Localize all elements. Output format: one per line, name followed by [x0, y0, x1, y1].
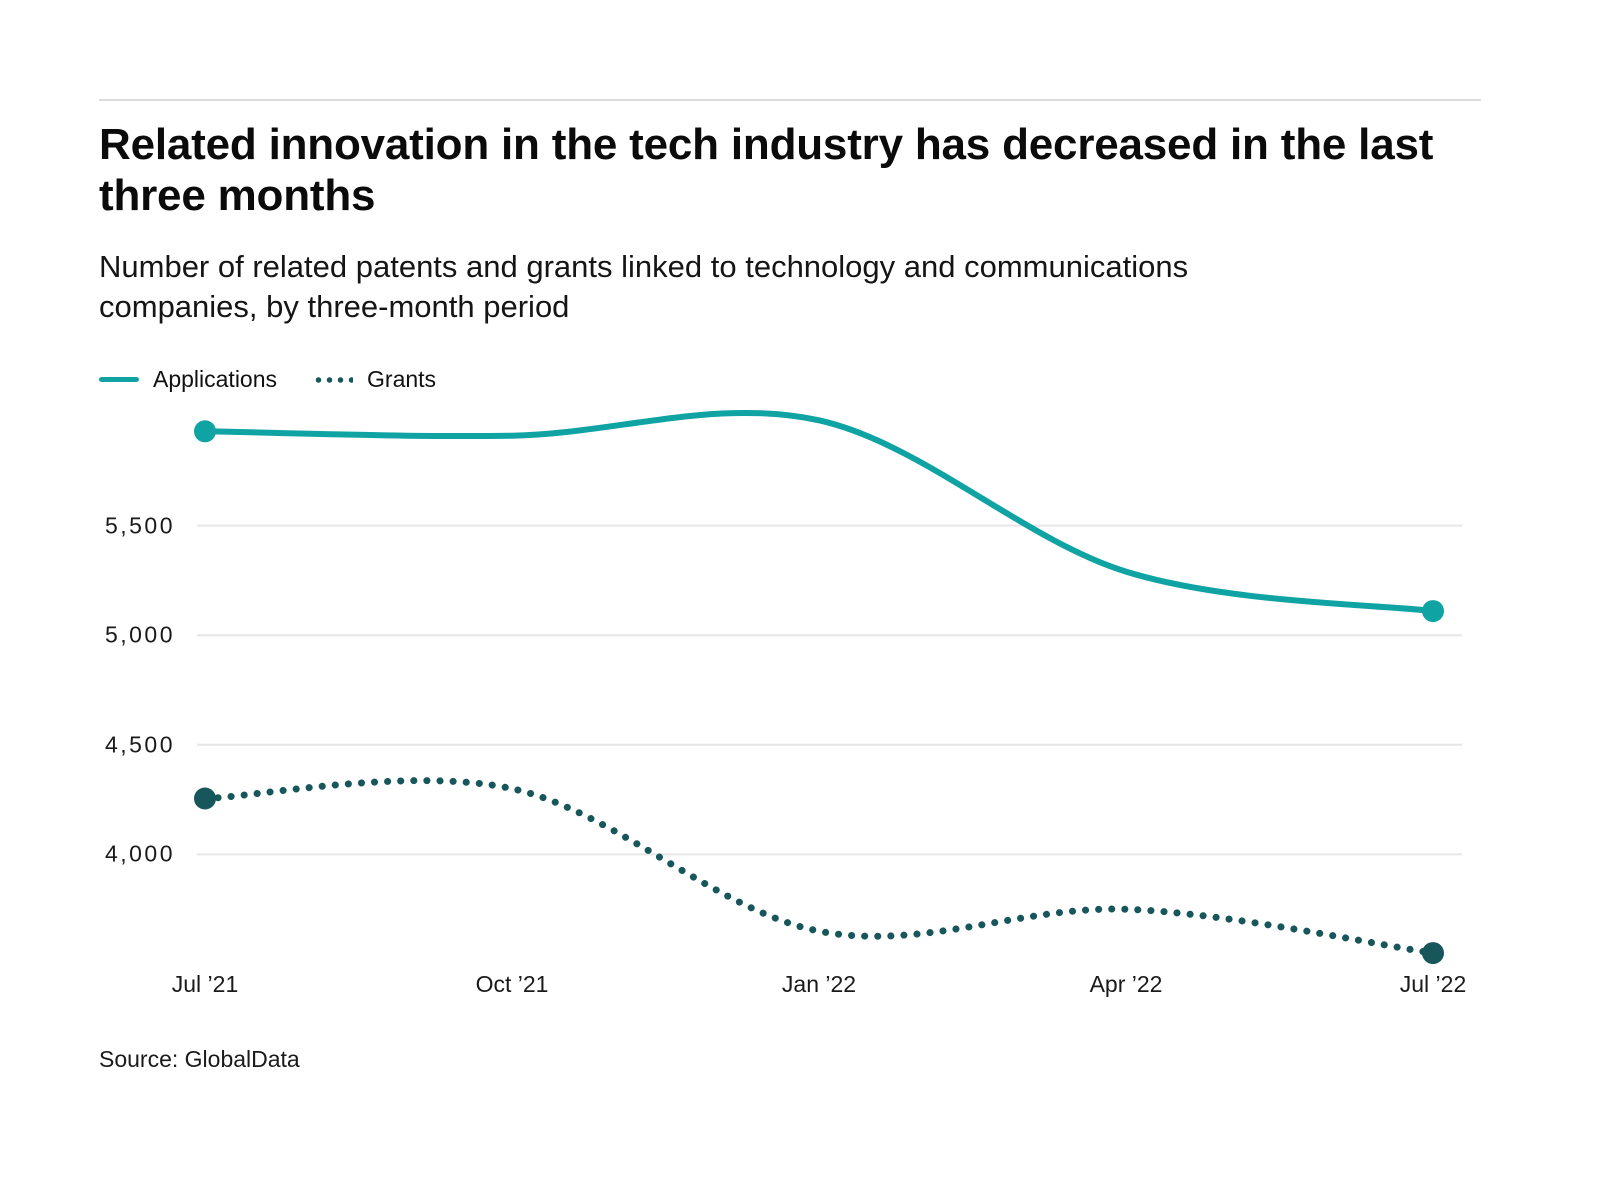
x-axis-tick-label: Jan ’22	[782, 971, 856, 998]
y-axis-tick-label: 5,500	[75, 512, 175, 539]
chart-plot-area: 5,5005,0004,5004,000 Jul ’21Oct ’21Jan ’…	[0, 0, 1600, 1200]
series-line-applications	[205, 413, 1433, 611]
data-point-marker	[194, 420, 216, 442]
series-line-grants	[205, 781, 1433, 953]
series-grants	[205, 781, 1433, 953]
y-axis-tick-label: 4,000	[75, 841, 175, 868]
source-note: Source: GlobalData	[99, 1046, 300, 1073]
data-point-marker	[194, 788, 216, 810]
x-axis-tick-label: Apr ’22	[1090, 971, 1163, 998]
series-applications	[205, 413, 1433, 611]
x-axis-tick-label: Jul ’21	[172, 971, 238, 998]
data-point-marker	[1422, 600, 1444, 622]
y-axis-tick-label: 5,000	[75, 622, 175, 649]
chart-page: Related innovation in the tech industry …	[0, 0, 1600, 1200]
line-chart-svg	[0, 0, 1600, 1200]
data-point-markers	[194, 420, 1444, 964]
x-axis-tick-label: Oct ’21	[476, 971, 549, 998]
x-axis-tick-label: Jul ’22	[1400, 971, 1466, 998]
y-axis-tick-label: 4,500	[75, 731, 175, 758]
data-point-marker	[1422, 942, 1444, 964]
gridlines	[197, 526, 1462, 855]
